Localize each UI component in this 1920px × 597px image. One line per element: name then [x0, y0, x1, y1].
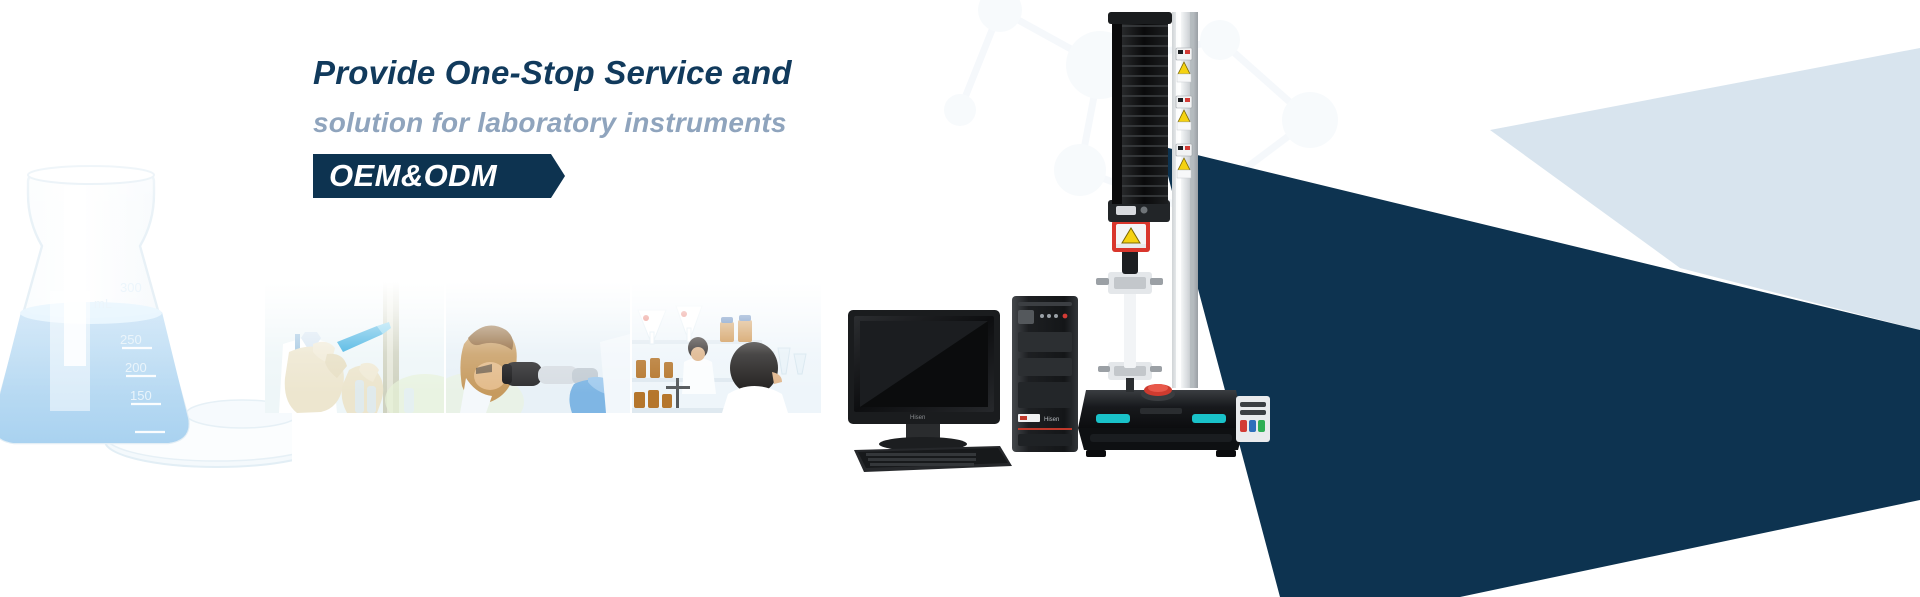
promo-banner: 300 mL 250 200 150 Provide One-Stop Serv…	[0, 0, 1920, 597]
badge-label: OEM&ODM	[329, 158, 497, 194]
computer-tower: Hisen	[1012, 296, 1078, 452]
laboratory-workers-photo	[632, 282, 821, 413]
keyboard	[854, 446, 1012, 472]
testing-machine-photo: Hisen	[840, 10, 1300, 480]
erlenmeyer-flask-photo: 300 mL 250 200 150	[0, 96, 292, 496]
desktop-monitor: Hisen	[848, 310, 1000, 451]
microscope-researcher-photo	[446, 282, 630, 413]
oem-odm-badge: OEM&ODM	[313, 154, 565, 198]
svg-text:Hisen: Hisen	[1044, 417, 1059, 423]
photo-strip	[265, 282, 821, 413]
universal-tensile-testing-machine	[1078, 12, 1270, 457]
svg-text:Hisen: Hisen	[910, 415, 925, 421]
pipetting-hands-photo	[265, 282, 444, 413]
